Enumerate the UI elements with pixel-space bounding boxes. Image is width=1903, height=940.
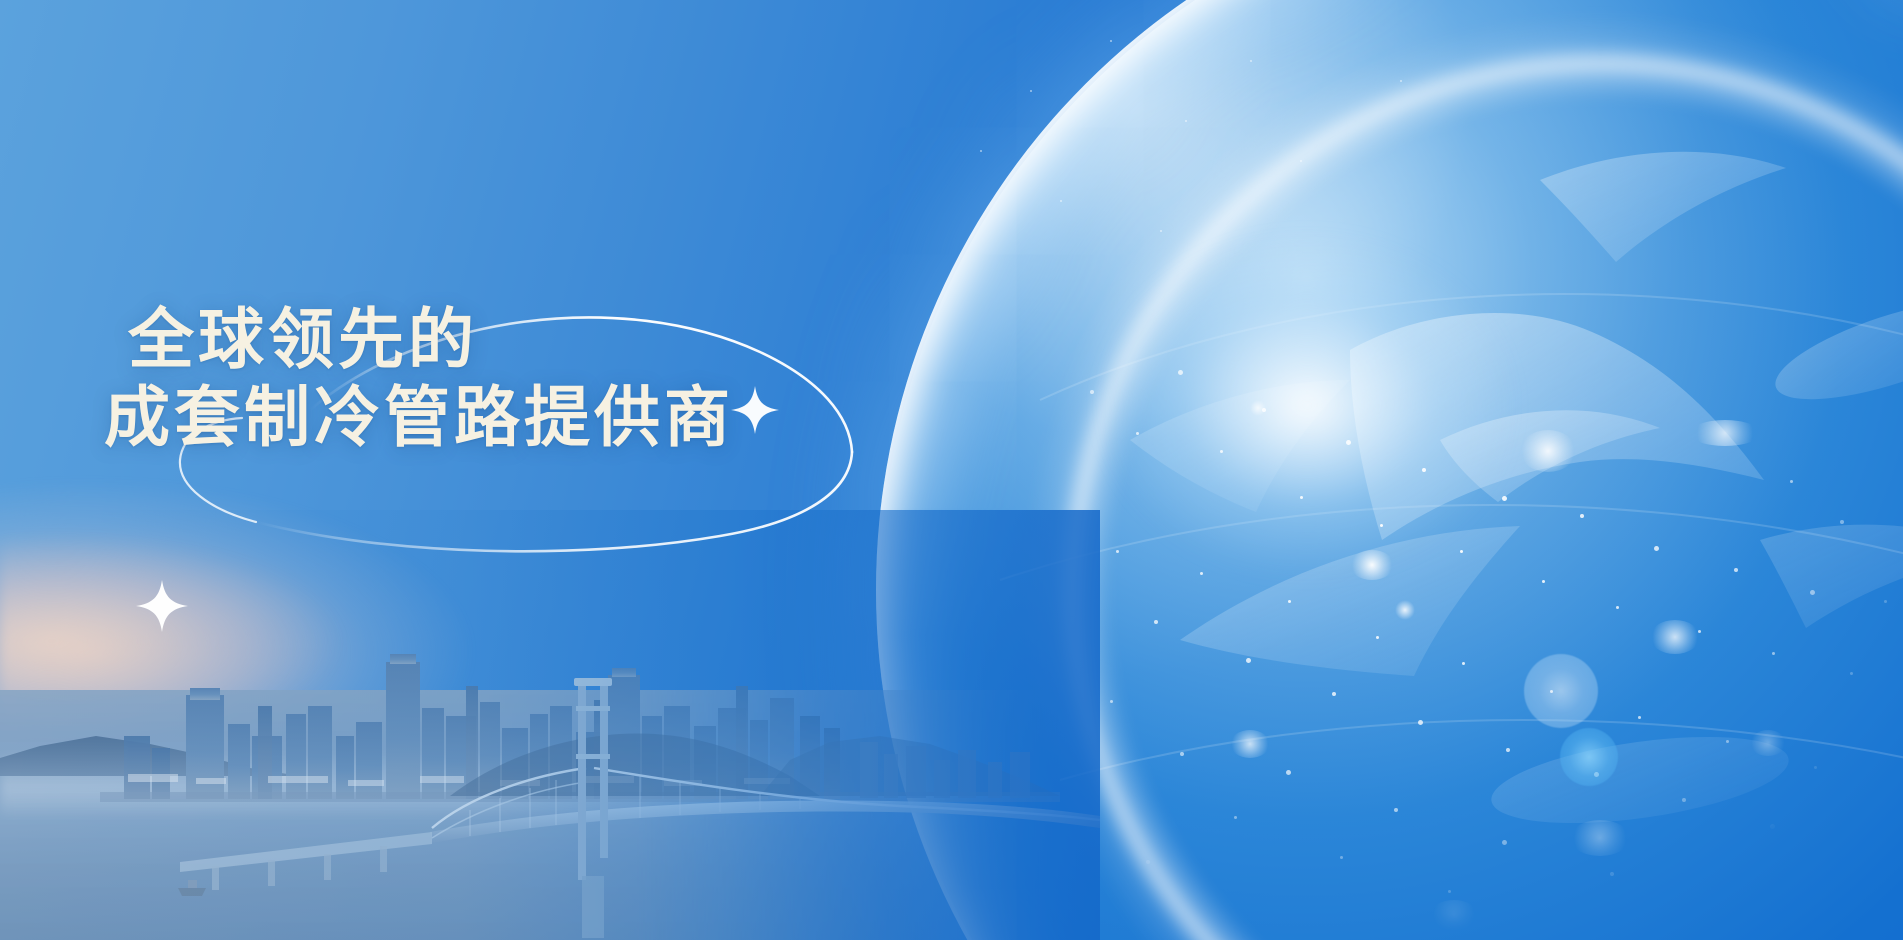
hero-banner: 全球领先的 成套制冷管路提供商 — [0, 0, 1903, 940]
headline-line-2: 成套制冷管路提供商 — [104, 378, 864, 456]
lens-flare-bokeh-secondary — [1560, 728, 1618, 786]
lens-flare-bokeh — [1524, 654, 1598, 728]
scene-blue-wash — [0, 510, 1100, 940]
harbour-scene — [0, 510, 1100, 940]
headline-line-1: 全球领先的 — [104, 300, 864, 378]
city-lights — [1050, 300, 1903, 940]
lens-flare-dot-secondary — [1250, 400, 1266, 416]
hero-headline: 全球领先的 成套制冷管路提供商 — [104, 300, 864, 456]
lens-flare-dot — [1395, 600, 1415, 620]
